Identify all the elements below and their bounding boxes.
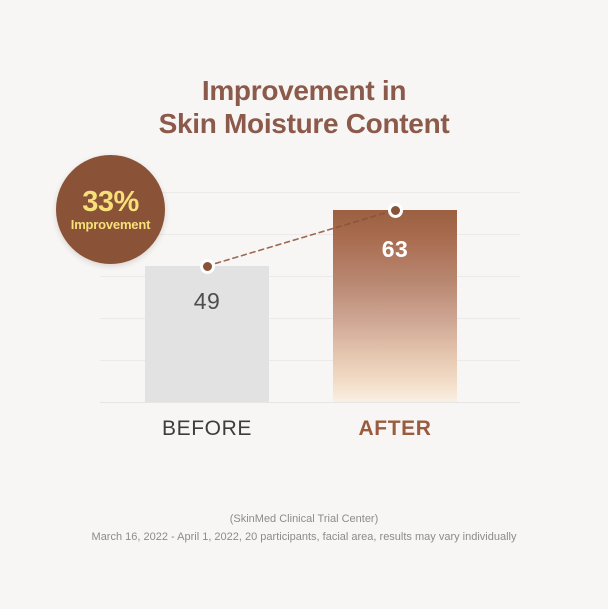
baseline-gridline bbox=[100, 402, 520, 403]
badge-percent: 33% bbox=[82, 187, 139, 217]
title-line-2: Skin Moisture Content bbox=[0, 107, 608, 140]
bar-value-before: 49 bbox=[145, 288, 269, 315]
badge-caption: Improvement bbox=[71, 217, 150, 233]
marker-dot-after bbox=[388, 203, 403, 218]
bar-after: 63 bbox=[333, 210, 457, 402]
footnote: (SkinMed Clinical Trial Center) March 16… bbox=[0, 510, 608, 546]
chart-page: Improvement in Skin Moisture Content 49 … bbox=[0, 0, 608, 609]
footnote-details: March 16, 2022 - April 1, 2022, 20 parti… bbox=[0, 528, 608, 546]
gridline bbox=[100, 234, 520, 235]
improvement-badge: 33% Improvement bbox=[56, 155, 165, 264]
bar-value-after: 63 bbox=[333, 236, 457, 263]
gridline bbox=[100, 192, 520, 193]
bar-before: 49 bbox=[145, 266, 269, 402]
marker-dot-before bbox=[200, 259, 215, 274]
category-label-before: BEFORE bbox=[112, 417, 302, 441]
title-line-1: Improvement in bbox=[0, 74, 608, 107]
page-title: Improvement in Skin Moisture Content bbox=[0, 74, 608, 140]
category-label-after: AFTER bbox=[300, 417, 490, 441]
footnote-source: (SkinMed Clinical Trial Center) bbox=[0, 510, 608, 528]
